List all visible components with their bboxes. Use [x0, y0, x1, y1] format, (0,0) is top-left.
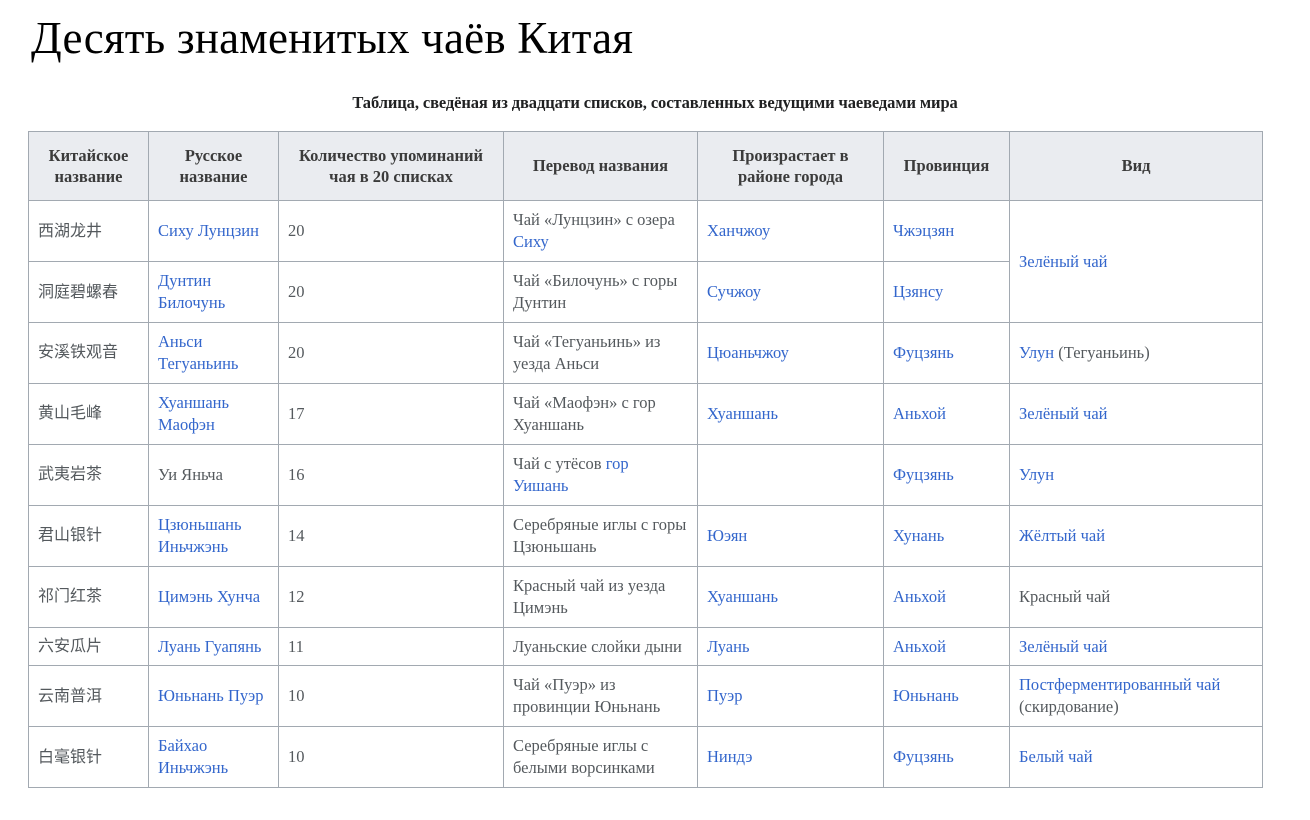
link-kind[interactable]: Зелёный чай: [1019, 637, 1107, 656]
cell-province: Аньхой: [884, 384, 1010, 445]
cell-translation: Чай «Маофэн» с гор Хуаншань: [504, 384, 698, 445]
cell-mentions: 17: [279, 384, 504, 445]
cell-chinese-name: 洞庭碧螺春: [29, 262, 149, 323]
kind-suffix: (скирдование): [1019, 697, 1119, 716]
cell-mentions: 12: [279, 566, 504, 627]
translation-text: Чай «Тегуаньинь» из уезда Аньси: [513, 332, 660, 373]
table-head: Китайское название Русское название Коли…: [29, 131, 1263, 201]
link-russian-name[interactable]: Дунтин Билочунь: [158, 271, 225, 312]
link-province[interactable]: Аньхой: [893, 404, 946, 423]
cell-kind: Улун: [1010, 444, 1263, 505]
cell-mentions: 10: [279, 666, 504, 727]
cell-russian-name: Дунтин Билочунь: [149, 262, 279, 323]
column-header-mentions-count[interactable]: Количество упоминаний чая в 20 списках: [279, 131, 504, 201]
translation-text: Чай «Билочунь» с горы Дунтин: [513, 271, 677, 312]
cell-city: Ханчжоу: [698, 201, 884, 262]
cell-chinese-name: 六安瓜片: [29, 627, 149, 666]
cell-translation: Чай «Пуэр» из провинции Юньнань: [504, 666, 698, 727]
link-province[interactable]: Аньхой: [893, 637, 946, 656]
cell-chinese-name: 云南普洱: [29, 666, 149, 727]
cell-province: Аньхой: [884, 627, 1010, 666]
translation-text: Чай «Пуэр» из провинции Юньнань: [513, 675, 660, 716]
cell-kind: Жёлтый чай: [1010, 505, 1263, 566]
link-city[interactable]: Юэян: [707, 526, 747, 545]
column-header-translation[interactable]: Перевод названия: [504, 131, 698, 201]
table-row: 西湖龙井 Сиху Лунцзин 20 Чай «Лунцзин» с озе…: [29, 201, 1263, 262]
table-row: 黄山毛峰 Хуаншань Маофэн 17 Чай «Маофэн» с г…: [29, 384, 1263, 445]
cell-province: Чжэцзян: [884, 201, 1010, 262]
table-header-row: Китайское название Русское название Коли…: [29, 131, 1263, 201]
cell-chinese-name: 君山银针: [29, 505, 149, 566]
cell-russian-name: Цимэнь Хунча: [149, 566, 279, 627]
cell-province: Цзянсу: [884, 262, 1010, 323]
cell-chinese-name: 武夷岩茶: [29, 444, 149, 505]
cell-chinese-name: 西湖龙井: [29, 201, 149, 262]
link-city[interactable]: Цюаньчжоу: [707, 343, 789, 362]
cell-kind: Зелёный чай: [1010, 627, 1263, 666]
column-header-chinese-name[interactable]: Китайское название: [29, 131, 149, 201]
link-kind[interactable]: Зелёный чай: [1019, 404, 1107, 423]
translation-text: Красный чай из уезда Цимэнь: [513, 576, 665, 617]
cell-translation: Чай «Билочунь» с горы Дунтин: [504, 262, 698, 323]
cell-province: Аньхой: [884, 566, 1010, 627]
cell-mentions: 10: [279, 727, 504, 788]
link-province[interactable]: Фуцзянь: [893, 343, 954, 362]
column-header-province[interactable]: Провинция: [884, 131, 1010, 201]
table-container: Китайское название Русское название Коли…: [0, 113, 1310, 789]
cell-chinese-name: 白毫银针: [29, 727, 149, 788]
link-kind[interactable]: Зелёный чай: [1019, 252, 1107, 271]
cell-russian-name: Уи Яньча: [149, 444, 279, 505]
link-kind[interactable]: Жёлтый чай: [1019, 526, 1105, 545]
cell-city-empty: [698, 444, 884, 505]
link-russian-name[interactable]: Луань Гуапянь: [158, 637, 261, 656]
column-header-kind[interactable]: Вид: [1010, 131, 1263, 201]
translation-text: Серебряные иглы с горы Цзюньшань: [513, 515, 686, 556]
cell-russian-name: Хуаншань Маофэн: [149, 384, 279, 445]
cell-mentions: 20: [279, 323, 504, 384]
table-caption: Таблица, сведёная из двадцати списков, с…: [0, 64, 1310, 113]
link-kind[interactable]: Улун: [1019, 465, 1054, 484]
translation-text: Луаньские слойки дыни: [513, 637, 682, 656]
cell-province: Юньнань: [884, 666, 1010, 727]
cell-mentions: 11: [279, 627, 504, 666]
cell-chinese-name: 黄山毛峰: [29, 384, 149, 445]
link-city[interactable]: Хуаншань: [707, 587, 778, 606]
link-province[interactable]: Фуцзянь: [893, 465, 954, 484]
translation-text: Серебряные иглы с белыми ворсинками: [513, 736, 655, 777]
link-province[interactable]: Чжэцзян: [893, 221, 954, 240]
cell-mentions: 16: [279, 444, 504, 505]
cell-city: Сучжоу: [698, 262, 884, 323]
russian-name-text: Уи Яньча: [158, 465, 223, 484]
link-kind[interactable]: Белый чай: [1019, 747, 1093, 766]
table-row: 云南普洱 Юньнань Пуэр 10 Чай «Пуэр» из прови…: [29, 666, 1263, 727]
cell-kind: Белый чай: [1010, 727, 1263, 788]
cell-russian-name: Сиху Лунцзин: [149, 201, 279, 262]
cell-translation: Серебряные иглы с горы Цзюньшань: [504, 505, 698, 566]
table-row: 六安瓜片 Луань Гуапянь 11 Луаньские слойки д…: [29, 627, 1263, 666]
cell-translation: Чай «Лунцзин» с озера Сиху: [504, 201, 698, 262]
table-body: 西湖龙井 Сиху Лунцзин 20 Чай «Лунцзин» с озе…: [29, 201, 1263, 788]
table-row: 武夷岩茶 Уи Яньча 16 Чай с утёсов гор Уишань…: [29, 444, 1263, 505]
cell-translation: Чай с утёсов гор Уишань: [504, 444, 698, 505]
cell-kind-merged: Зелёный чай: [1010, 201, 1263, 323]
page-title: Десять знаменитых чаёв Китая: [0, 0, 1310, 64]
cell-mentions: 20: [279, 201, 504, 262]
column-header-city[interactable]: Произрастает в районе города: [698, 131, 884, 201]
cell-russian-name: Байхао Иньчжэнь: [149, 727, 279, 788]
cell-translation: Чай «Тегуаньинь» из уезда Аньси: [504, 323, 698, 384]
link-russian-name[interactable]: Цзюньшань Иньчжэнь: [158, 515, 242, 556]
table-row: 君山银针 Цзюньшань Иньчжэнь 14 Серебряные иг…: [29, 505, 1263, 566]
cell-kind: Улун (Тегуаньинь): [1010, 323, 1263, 384]
cell-city: Луань: [698, 627, 884, 666]
link-kind[interactable]: Постферментированный чай: [1019, 675, 1220, 694]
cell-translation: Луаньские слойки дыни: [504, 627, 698, 666]
column-header-russian-name[interactable]: Русское название: [149, 131, 279, 201]
link-russian-name[interactable]: Сиху Лунцзин: [158, 221, 259, 240]
cell-russian-name: Цзюньшань Иньчжэнь: [149, 505, 279, 566]
cell-russian-name: Аньси Тегуаньинь: [149, 323, 279, 384]
cell-kind: Зелёный чай: [1010, 384, 1263, 445]
link-russian-name[interactable]: Хуаншань Маофэн: [158, 393, 229, 434]
link-city[interactable]: Луань: [707, 637, 750, 656]
link-city[interactable]: Хуаншань: [707, 404, 778, 423]
cell-city: Пуэр: [698, 666, 884, 727]
cell-province: Фуцзянь: [884, 444, 1010, 505]
link-translation[interactable]: Сиху: [513, 232, 549, 251]
link-province[interactable]: Цзянсу: [893, 282, 943, 301]
link-province[interactable]: Аньхой: [893, 587, 946, 606]
link-russian-name[interactable]: Цимэнь Хунча: [158, 587, 260, 606]
translation-text: Чай с утёсов: [513, 454, 606, 473]
link-city[interactable]: Ханчжоу: [707, 221, 770, 240]
link-province[interactable]: Юньнань: [893, 686, 959, 705]
translation-text: Чай «Маофэн» с гор Хуаншань: [513, 393, 656, 434]
cell-city: Цюаньчжоу: [698, 323, 884, 384]
link-russian-name[interactable]: Байхао Иньчжэнь: [158, 736, 228, 777]
cell-mentions: 20: [279, 262, 504, 323]
cell-translation: Красный чай из уезда Цимэнь: [504, 566, 698, 627]
table-row: 白毫银针 Байхао Иньчжэнь 10 Серебряные иглы …: [29, 727, 1263, 788]
translation-text: Чай «Лунцзин» с озера: [513, 210, 675, 229]
link-city[interactable]: Пуэр: [707, 686, 743, 705]
cell-russian-name: Юньнань Пуэр: [149, 666, 279, 727]
cell-mentions: 14: [279, 505, 504, 566]
page-root: Десять знаменитых чаёв Китая Таблица, св…: [0, 0, 1310, 820]
link-city[interactable]: Ниндэ: [707, 747, 752, 766]
cell-russian-name: Луань Гуапянь: [149, 627, 279, 666]
cell-province: Фуцзянь: [884, 323, 1010, 384]
table-row: 祁门红茶 Цимэнь Хунча 12 Красный чай из уезд…: [29, 566, 1263, 627]
link-russian-name[interactable]: Юньнань Пуэр: [158, 686, 263, 705]
cell-city: Хуаншань: [698, 384, 884, 445]
cell-province: Фуцзянь: [884, 727, 1010, 788]
link-province[interactable]: Хунань: [893, 526, 944, 545]
cell-kind: Красный чай: [1010, 566, 1263, 627]
link-city[interactable]: Сучжоу: [707, 282, 761, 301]
link-province[interactable]: Фуцзянь: [893, 747, 954, 766]
cell-city: Ниндэ: [698, 727, 884, 788]
cell-translation: Серебряные иглы с белыми ворсинками: [504, 727, 698, 788]
cell-city: Хуаншань: [698, 566, 884, 627]
kind-text: Красный чай: [1019, 587, 1110, 606]
kind-suffix: (Тегуаньинь): [1054, 343, 1150, 362]
link-russian-name[interactable]: Аньси Тегуаньинь: [158, 332, 238, 373]
cell-kind: Постферментированный чай (скирдование): [1010, 666, 1263, 727]
cell-city: Юэян: [698, 505, 884, 566]
cell-chinese-name: 祁门红茶: [29, 566, 149, 627]
link-kind[interactable]: Улун: [1019, 343, 1054, 362]
cell-chinese-name: 安溪铁观音: [29, 323, 149, 384]
cell-province: Хунань: [884, 505, 1010, 566]
tea-table: Китайское название Русское название Коли…: [28, 131, 1263, 789]
table-row: 安溪铁观音 Аньси Тегуаньинь 20 Чай «Тегуаньин…: [29, 323, 1263, 384]
